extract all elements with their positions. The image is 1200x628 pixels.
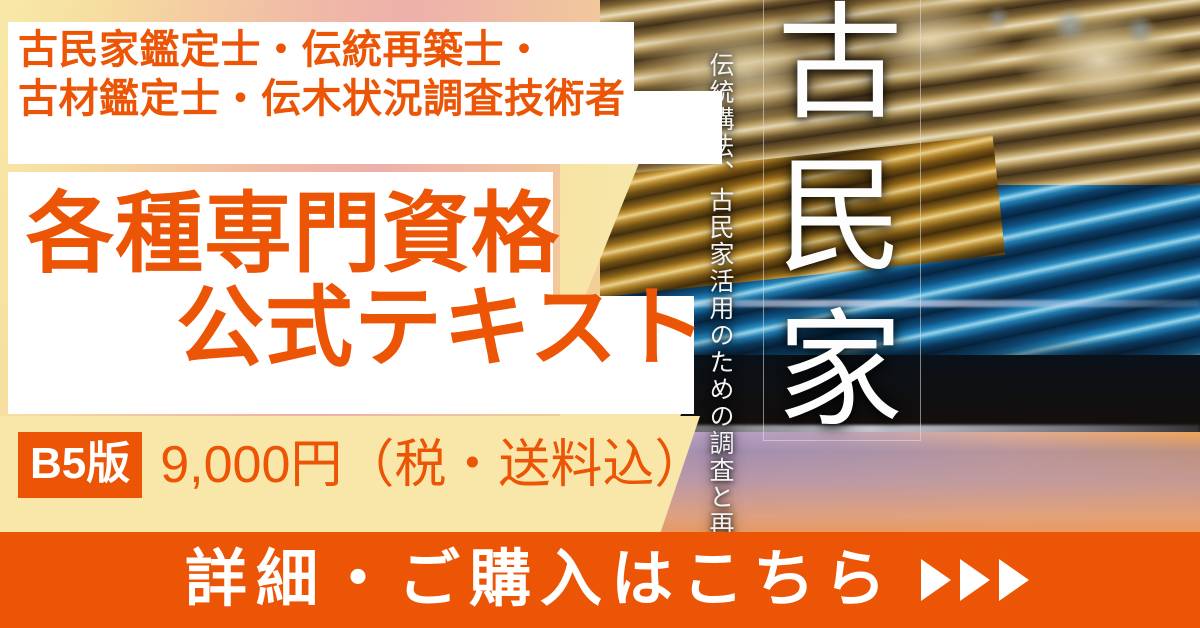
play-triangle-icon xyxy=(999,559,1029,601)
book-title-vertical: 古 民 家 xyxy=(770,4,910,434)
cta-label: 詳細・ご購入はこちら xyxy=(171,549,895,611)
qualifications-text: 古民家鑑定士・伝統再築士・ 古材鑑定士・伝木状況調査技術者 xyxy=(18,26,626,124)
headline-line-1: 各種専門資格 xyxy=(26,186,560,282)
cta-bar[interactable]: 詳細・ご購入はこちら xyxy=(0,532,1200,628)
qualifications-line-2: 古材鑑定士・伝木状況調査技術者 xyxy=(18,75,626,124)
cta-arrow-group xyxy=(921,559,1029,601)
format-badge: B5版 xyxy=(18,432,142,498)
qualifications-line-1: 古民家鑑定士・伝統再築士・ xyxy=(18,26,626,75)
book-title-char-3: 家 xyxy=(777,311,903,434)
play-triangle-icon xyxy=(960,559,990,601)
book-title-char-1: 古 xyxy=(777,4,903,127)
price-row: B5版 9,000円（税・送料込） xyxy=(18,432,706,498)
headline-line-2: 公式テキスト xyxy=(176,280,707,376)
book-title-char-2: 民 xyxy=(777,157,903,280)
promo-banner: 古 民 家 伝統構法、古民家活用のための調査と再生の 古民家鑑定士・伝統再築士・… xyxy=(0,0,1200,628)
price-amount: 9,000円（税・送料込） xyxy=(160,439,706,491)
play-triangle-icon xyxy=(921,559,951,601)
